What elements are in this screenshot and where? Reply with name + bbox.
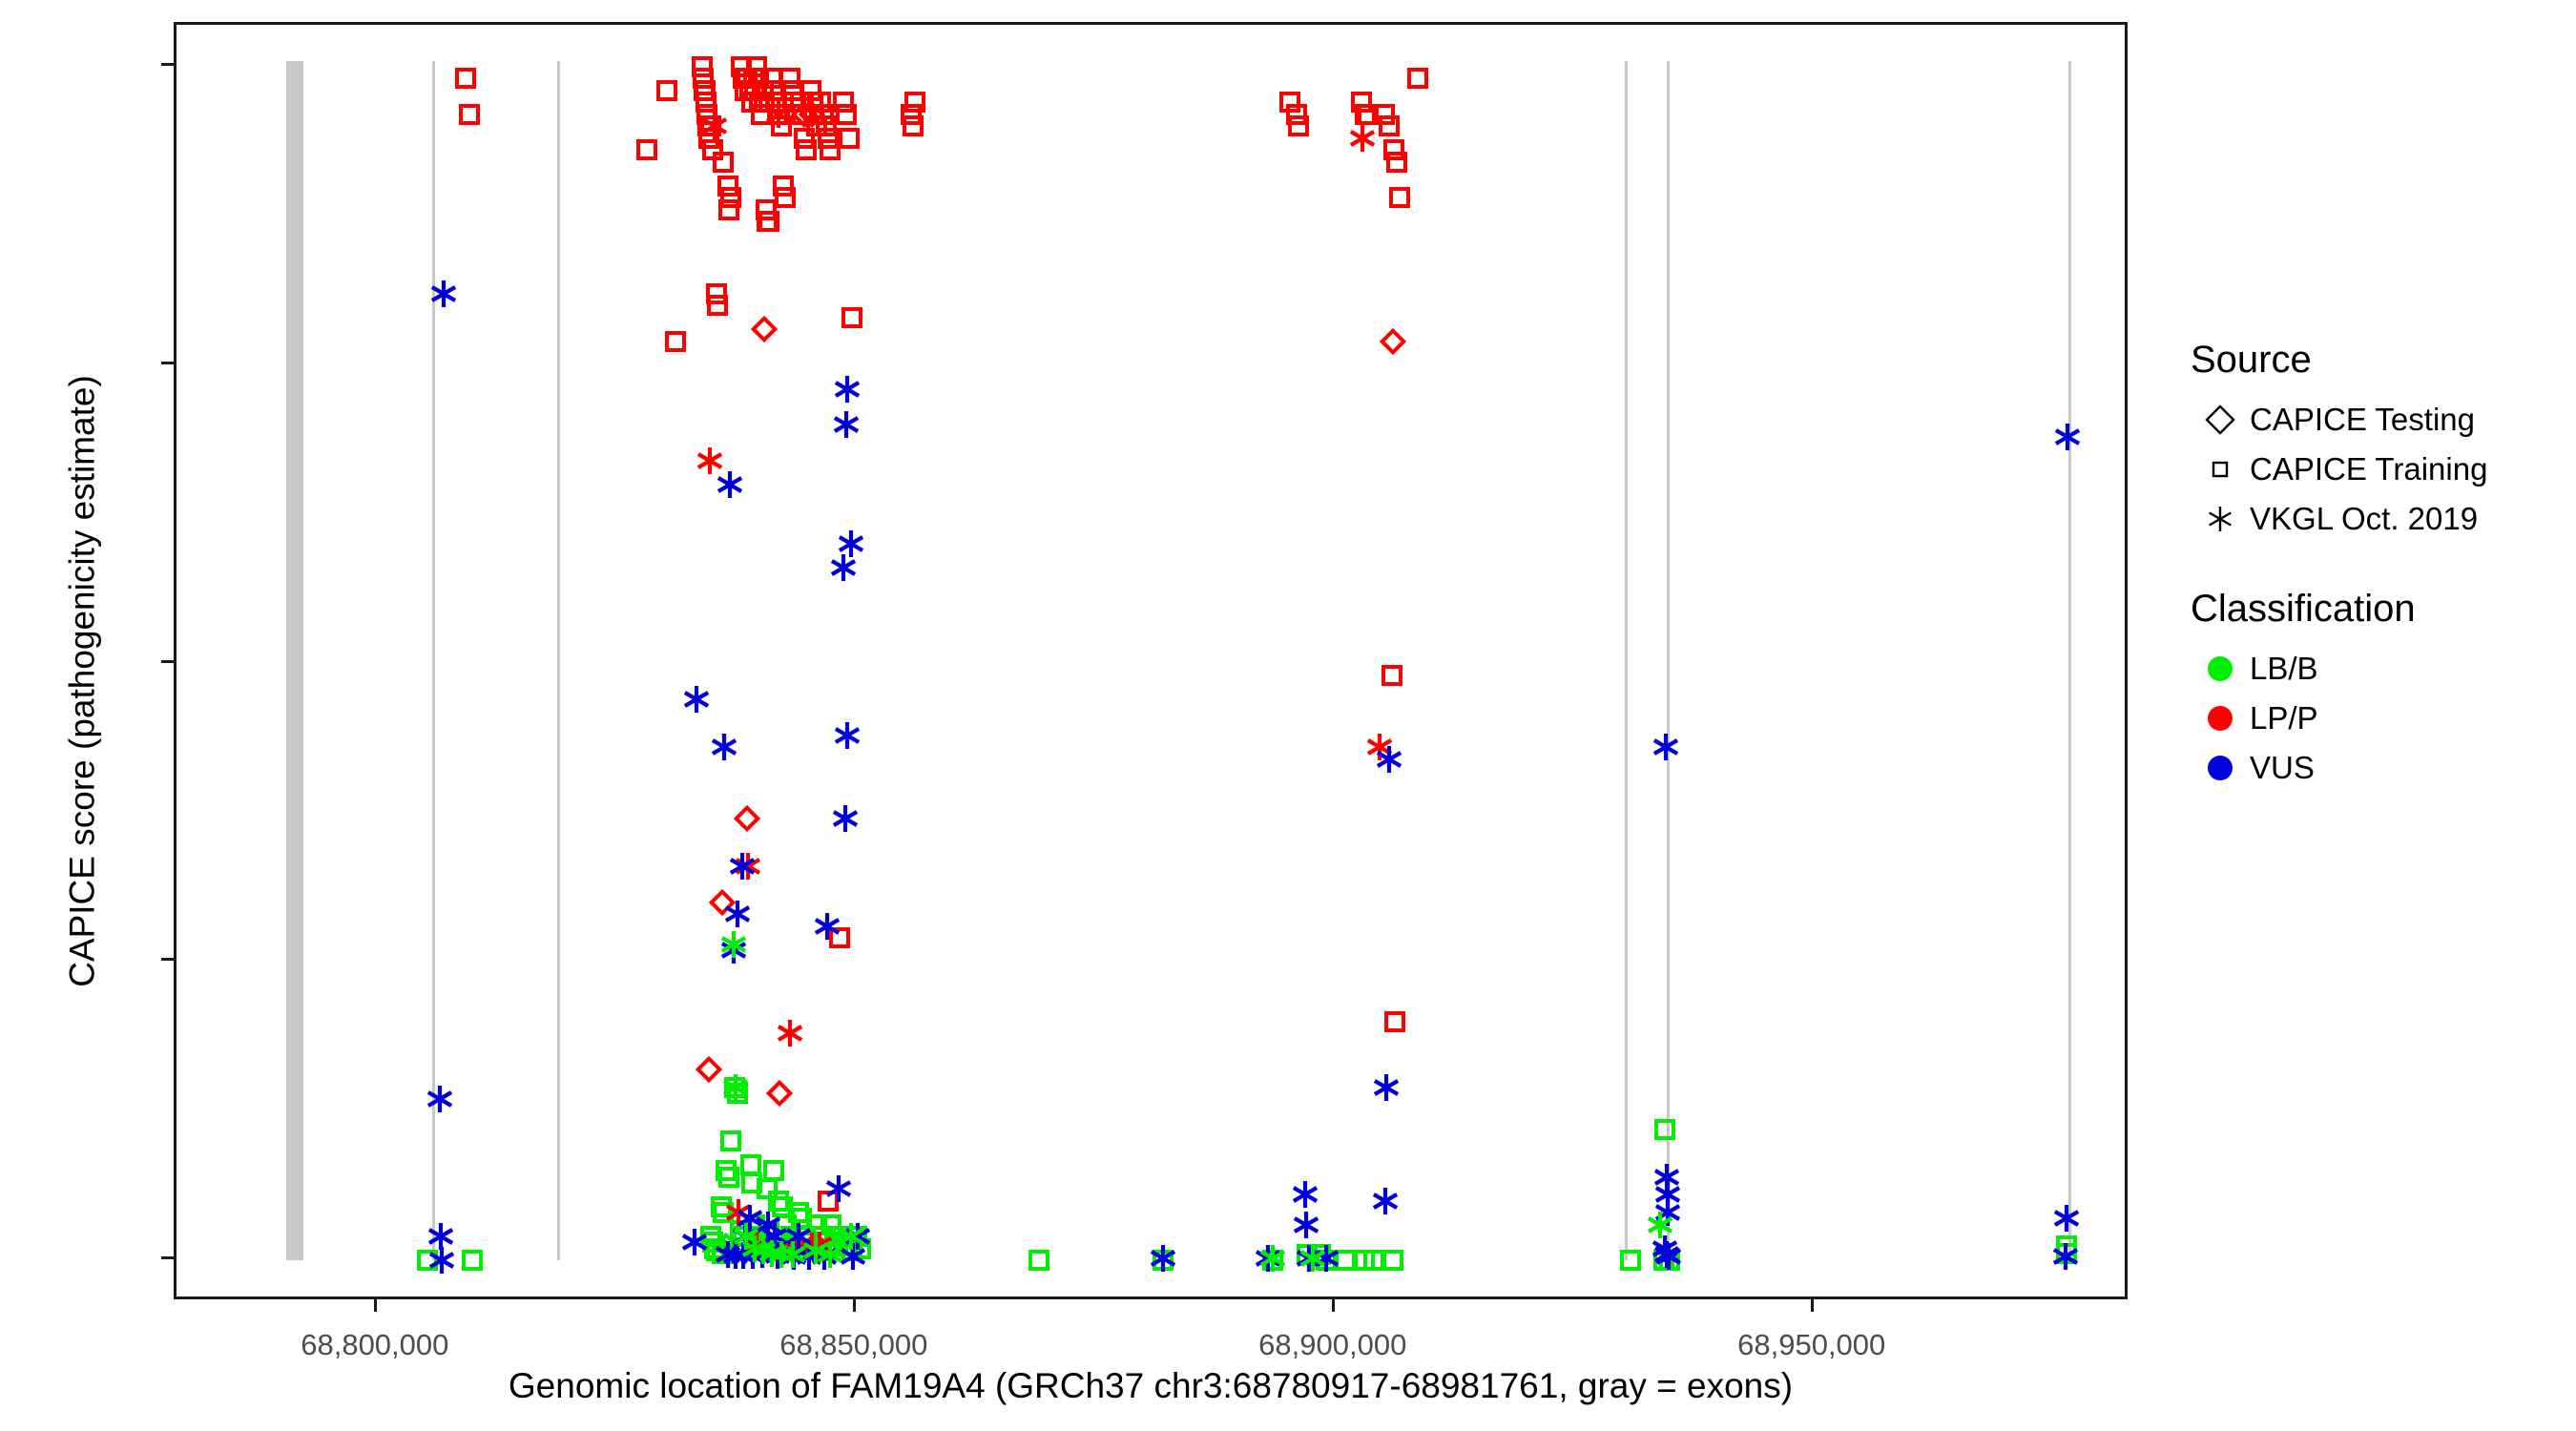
data-point-square	[730, 1220, 751, 1241]
data-point-asterisk	[749, 1236, 778, 1265]
data-point-asterisk	[824, 1174, 853, 1203]
y-tick-mark	[161, 362, 174, 364]
data-point-square	[1153, 1250, 1174, 1271]
data-point-square	[1653, 1250, 1674, 1271]
data-point-asterisk	[1298, 1244, 1327, 1273]
data-point-asterisk	[732, 1222, 760, 1251]
data-point-asterisk	[760, 1222, 789, 1251]
diamond-marker-icon	[2191, 395, 2250, 445]
data-point-square	[700, 1226, 721, 1247]
data-point-square	[702, 139, 723, 160]
legend-group-classification: Classification LB/B LP/P VUS	[2191, 588, 2563, 793]
data-point-asterisk	[714, 1240, 742, 1269]
data-point-square	[459, 104, 480, 125]
data-point-square	[810, 1232, 831, 1253]
data-point-asterisk	[734, 852, 762, 881]
data-point-square	[811, 1226, 832, 1247]
data-point-square	[780, 1226, 801, 1247]
data-point-asterisk	[426, 1222, 455, 1251]
legend-item-lbb[interactable]: LB/B	[2191, 644, 2563, 694]
data-point-square	[702, 1232, 723, 1253]
data-point-square	[744, 80, 765, 101]
data-point-square	[758, 211, 779, 232]
data-point-asterisk	[1312, 1244, 1340, 1273]
data-point-square	[1379, 115, 1400, 136]
data-point-square	[767, 104, 788, 125]
data-point-square	[740, 1154, 761, 1175]
data-point-square	[816, 115, 837, 136]
data-point-square	[829, 927, 850, 948]
data-point-square	[656, 80, 677, 101]
data-point-asterisk	[728, 852, 757, 881]
x-axis-title: Genomic location of FAM19A4 (GRCh37 chr3…	[174, 1366, 2128, 1406]
plot-panel	[174, 22, 2128, 1299]
data-point-asterisk	[810, 1242, 839, 1271]
legend-title-classification: Classification	[2191, 588, 2563, 631]
data-point-square	[783, 92, 804, 113]
data-point-square	[744, 1214, 765, 1235]
data-point-square	[695, 80, 716, 101]
exon-band	[286, 61, 302, 1261]
data-point-square	[903, 115, 924, 136]
data-point-asterisk	[748, 1240, 777, 1269]
data-point-asterisk	[833, 721, 862, 750]
data-point-square	[837, 1235, 858, 1256]
data-point-asterisk	[1371, 1187, 1400, 1215]
red-dot-icon	[2191, 694, 2250, 743]
data-point-square	[813, 104, 834, 125]
data-point-square	[761, 68, 782, 89]
data-point-square	[696, 92, 717, 113]
data-point-square	[820, 139, 841, 160]
data-point-square	[775, 187, 796, 208]
data-point-asterisk	[721, 1073, 750, 1102]
data-point-square	[757, 1178, 778, 1199]
data-point-asterisk	[1652, 733, 1680, 761]
data-point-square	[713, 1202, 734, 1223]
data-point-asterisk	[758, 1239, 786, 1268]
exon-band	[432, 61, 435, 1261]
legend-item-capice-testing[interactable]: CAPICE Testing	[2191, 395, 2563, 445]
y-tick-mark	[161, 63, 174, 66]
data-point-square	[788, 1202, 809, 1223]
data-point-asterisk	[754, 1211, 782, 1239]
data-point-square	[720, 187, 741, 208]
data-point-square	[1381, 665, 1402, 686]
data-point-square	[824, 1226, 845, 1247]
data-point-square	[706, 283, 727, 304]
chart-root: 0.000.250.500.751.00 68,800,00068,850,00…	[0, 0, 2576, 1431]
x-tick-label: 68,900,000	[1258, 1328, 1406, 1362]
data-point-square	[1354, 1250, 1375, 1271]
data-point-square	[731, 56, 752, 77]
data-point-square	[749, 92, 770, 113]
data-point-square	[711, 1196, 732, 1217]
data-point-square	[692, 56, 713, 77]
data-point-asterisk	[837, 529, 865, 558]
data-point-square	[665, 331, 686, 352]
data-point-square	[716, 1160, 737, 1181]
legend-group-source: Source CAPICE Testing CAPICE Training	[2191, 339, 2563, 544]
x-tick-label: 68,850,000	[779, 1328, 927, 1362]
exon-band	[1667, 61, 1670, 1261]
data-point-square	[2056, 1235, 2077, 1256]
data-point-square	[790, 92, 811, 113]
data-point-asterisk	[700, 112, 729, 140]
data-point-asterisk	[805, 1231, 834, 1259]
data-point-square	[746, 56, 767, 77]
data-point-asterisk	[738, 1241, 767, 1270]
data-point-square	[901, 104, 922, 125]
data-point-square	[1297, 1244, 1318, 1265]
data-point-square	[1355, 104, 1376, 125]
data-point-square	[700, 115, 721, 136]
data-point-square	[795, 1226, 816, 1247]
data-point-asterisk	[1646, 1211, 1674, 1239]
data-point-square	[1358, 104, 1379, 125]
y-tick-mark	[161, 660, 174, 663]
x-tick-mark	[853, 1299, 856, 1312]
data-point-square	[839, 128, 860, 149]
data-point-asterisk	[1254, 1244, 1282, 1273]
data-point-square	[462, 1250, 483, 1271]
data-point-square	[1383, 139, 1404, 160]
data-point-asterisk	[1365, 733, 1394, 761]
data-point-square	[833, 92, 854, 113]
data-point-square	[832, 1226, 853, 1247]
exon-band	[2068, 61, 2071, 1261]
data-point-square	[806, 1214, 827, 1235]
legend-item-vus[interactable]: VUS	[2191, 743, 2563, 793]
data-point-square	[743, 68, 764, 89]
legend-label-vkgl: VKGL Oct. 2019	[2250, 501, 2478, 537]
data-point-square	[810, 92, 831, 113]
data-point-asterisk	[736, 1204, 764, 1233]
data-point-diamond	[798, 101, 824, 128]
data-point-asterisk	[1258, 1244, 1287, 1273]
data-point-square	[792, 104, 813, 125]
legend-label-lpp: LP/P	[2250, 700, 2318, 736]
data-point-asterisk	[2052, 1204, 2081, 1233]
data-point-square	[2056, 1243, 2077, 1264]
data-point-asterisk	[716, 470, 744, 499]
data-point-square	[784, 1235, 805, 1256]
data-point-square	[1286, 104, 1307, 125]
square-marker-icon	[2191, 445, 2250, 494]
data-point-asterisk	[764, 100, 793, 129]
data-point-square	[818, 1191, 839, 1212]
data-point-square	[739, 80, 760, 101]
data-point-square	[836, 104, 857, 125]
data-point-diamond	[713, 1233, 739, 1259]
legend: Source CAPICE Testing CAPICE Training	[2191, 339, 2563, 837]
data-point-square	[904, 92, 925, 113]
data-point-square	[1288, 115, 1309, 136]
data-point-square	[754, 92, 775, 113]
data-point-square	[712, 1243, 733, 1264]
data-point-square	[821, 1214, 841, 1235]
data-point-asterisk	[779, 1242, 808, 1271]
data-point-square	[757, 211, 778, 232]
blue-dot-icon	[2191, 743, 2250, 793]
exon-band	[557, 61, 560, 1261]
data-point-square	[1028, 1250, 1049, 1271]
data-point-square	[636, 139, 657, 160]
data-point-asterisk	[816, 1240, 844, 1269]
data-point-square	[841, 307, 862, 328]
data-point-square	[1659, 1250, 1680, 1271]
data-point-diamond	[734, 805, 760, 832]
data-point-square	[773, 176, 794, 197]
data-point-asterisk	[1295, 1244, 1323, 1273]
data-point-asterisk	[798, 1232, 826, 1260]
data-point-square	[706, 1240, 727, 1261]
data-point-asterisk	[784, 1222, 813, 1251]
data-point-square	[827, 1235, 848, 1256]
data-point-square	[850, 1238, 871, 1259]
data-point-asterisk	[2051, 1242, 2080, 1271]
data-point-asterisk	[1348, 124, 1377, 153]
data-point-square	[1382, 1250, 1403, 1271]
data-point-square	[1654, 1119, 1675, 1140]
data-point-square	[733, 68, 754, 89]
data-point-square	[846, 1226, 867, 1247]
data-point-diamond	[790, 101, 817, 128]
x-tick-mark	[374, 1299, 377, 1312]
data-point-asterisk	[724, 1198, 753, 1227]
data-point-asterisk	[767, 1240, 796, 1269]
data-point-asterisk	[781, 1234, 810, 1263]
data-point-diamond	[709, 889, 736, 916]
data-point-square	[707, 295, 728, 316]
data-point-square	[1262, 1250, 1283, 1271]
data-point-square	[776, 1214, 797, 1235]
data-point-asterisk	[719, 936, 748, 964]
data-point-asterisk	[2053, 423, 2082, 451]
data-point-square	[741, 1172, 762, 1193]
data-point-asterisk	[1651, 1234, 1679, 1263]
data-point-square	[772, 1196, 793, 1217]
data-point-square	[781, 1235, 802, 1256]
data-point-square	[803, 104, 824, 125]
data-point-square	[750, 1235, 771, 1256]
data-point-asterisk	[832, 410, 861, 439]
data-point-square	[694, 80, 715, 101]
data-point-square	[741, 92, 762, 113]
data-point-asterisk	[721, 1241, 750, 1270]
y-tick-mark	[161, 1256, 174, 1259]
data-point-asterisk	[723, 900, 752, 928]
x-tick-mark	[1332, 1299, 1335, 1312]
data-point-square	[1407, 68, 1428, 89]
x-tick-mark	[1811, 1299, 1814, 1312]
legend-item-capice-training[interactable]: CAPICE Training	[2191, 445, 2563, 494]
data-point-diamond	[696, 1056, 722, 1083]
data-point-square	[771, 115, 792, 136]
data-point-asterisk	[710, 733, 738, 761]
data-point-square	[799, 1232, 820, 1253]
data-point-square	[763, 80, 784, 101]
data-point-square	[818, 128, 839, 149]
data-point-square	[816, 1238, 837, 1259]
data-point-asterisk	[763, 1241, 792, 1270]
data-point-asterisk	[1372, 1073, 1401, 1102]
data-point-square	[1384, 1011, 1405, 1032]
data-point-asterisk	[731, 1222, 759, 1251]
data-point-asterisk	[801, 1236, 830, 1265]
data-point-square	[1363, 1250, 1384, 1271]
data-point-square	[753, 80, 774, 101]
data-point-asterisk	[831, 804, 860, 833]
data-point-asterisk	[776, 1019, 804, 1047]
data-point-asterisk	[795, 1242, 823, 1271]
data-point-square	[727, 1083, 748, 1104]
data-point-asterisk	[740, 1234, 769, 1263]
data-point-asterisk	[839, 1242, 867, 1271]
data-point-diamond	[1380, 327, 1406, 354]
legend-label-vus: VUS	[2250, 750, 2315, 786]
data-point-square	[802, 1238, 823, 1259]
data-point-asterisk	[719, 930, 748, 959]
data-point-square	[841, 1240, 862, 1261]
data-point-asterisk	[729, 1241, 758, 1270]
data-point-square	[696, 104, 717, 125]
data-point-square	[1351, 92, 1372, 113]
legend-label-lbb: LB/B	[2250, 651, 2318, 687]
data-point-asterisk	[1291, 1180, 1319, 1209]
data-point-asterisk	[833, 375, 862, 404]
data-point-asterisk	[829, 553, 858, 582]
data-point-square	[724, 1077, 745, 1098]
data-point-square	[1389, 187, 1410, 208]
data-point-square	[697, 115, 718, 136]
x-tick-label: 68,950,000	[1737, 1328, 1885, 1362]
data-point-square	[786, 104, 807, 125]
data-point-asterisk	[779, 1240, 807, 1269]
green-dot-icon	[2191, 644, 2250, 694]
data-point-square	[1335, 1250, 1356, 1271]
data-point-square	[765, 92, 786, 113]
data-point-square	[720, 1130, 741, 1151]
legend-item-vkgl[interactable]: VKGL Oct. 2019	[2191, 494, 2563, 544]
asterisk-marker-icon	[2191, 494, 2250, 544]
data-point-square	[751, 104, 772, 125]
data-point-asterisk	[682, 685, 711, 714]
data-point-square	[733, 1226, 754, 1247]
data-point-diamond	[713, 1233, 739, 1259]
data-point-square	[754, 1238, 775, 1259]
data-point-asterisk	[1375, 745, 1403, 774]
data-point-square	[779, 68, 800, 89]
data-point-asterisk	[742, 1232, 771, 1260]
data-point-square	[769, 104, 790, 125]
data-point-square	[800, 80, 821, 101]
data-point-square	[717, 176, 738, 197]
data-point-square	[1310, 1244, 1331, 1265]
y-axis-title: CAPICE score (pathogenicity estimate)	[63, 43, 103, 1320]
data-point-diamond	[766, 1080, 793, 1107]
data-point-square	[748, 68, 769, 89]
data-point-asterisk	[837, 1222, 865, 1251]
data-point-square	[768, 1191, 789, 1212]
data-point-square	[1316, 1250, 1337, 1271]
data-point-asterisk	[1149, 1244, 1177, 1273]
data-point-square	[756, 199, 777, 220]
data-point-square	[698, 128, 719, 149]
data-point-square	[762, 1238, 783, 1259]
data-point-square	[718, 199, 739, 220]
x-tick-label: 68,800,000	[301, 1328, 448, 1362]
data-point-square	[693, 68, 714, 89]
data-point-square	[759, 1240, 780, 1261]
data-point-diamond	[751, 316, 778, 342]
data-point-square	[791, 1208, 812, 1229]
legend-item-lpp[interactable]: LP/P	[2191, 694, 2563, 743]
data-point-asterisk	[426, 1085, 454, 1113]
data-point-square	[1620, 1250, 1641, 1271]
data-point-square	[735, 80, 756, 101]
data-point-square	[796, 139, 817, 160]
data-point-square	[763, 1160, 784, 1181]
data-point-asterisk	[813, 912, 841, 941]
data-point-square	[806, 115, 827, 136]
data-point-square	[1386, 152, 1407, 173]
data-point-square	[794, 128, 815, 149]
data-point-square	[718, 1167, 739, 1188]
plot-area	[177, 25, 2125, 1296]
data-point-square	[802, 92, 823, 113]
legend-title-source: Source	[2191, 339, 2563, 382]
data-point-asterisk	[696, 446, 724, 475]
y-tick-mark	[161, 958, 174, 961]
data-point-square	[704, 1238, 725, 1259]
data-point-square	[782, 80, 803, 101]
data-point-asterisk	[843, 1222, 872, 1251]
data-point-asterisk	[680, 1228, 709, 1256]
data-point-square	[1374, 104, 1395, 125]
data-point-asterisk	[1292, 1211, 1320, 1239]
data-point-square	[713, 152, 734, 173]
exon-band	[1625, 61, 1628, 1261]
data-point-square	[1279, 92, 1300, 113]
data-point-square	[747, 1226, 768, 1247]
data-point-square	[455, 68, 476, 89]
legend-label-capice-training: CAPICE Training	[2250, 451, 2487, 487]
data-point-square	[737, 68, 758, 89]
legend-label-capice-testing: CAPICE Testing	[2250, 402, 2475, 438]
